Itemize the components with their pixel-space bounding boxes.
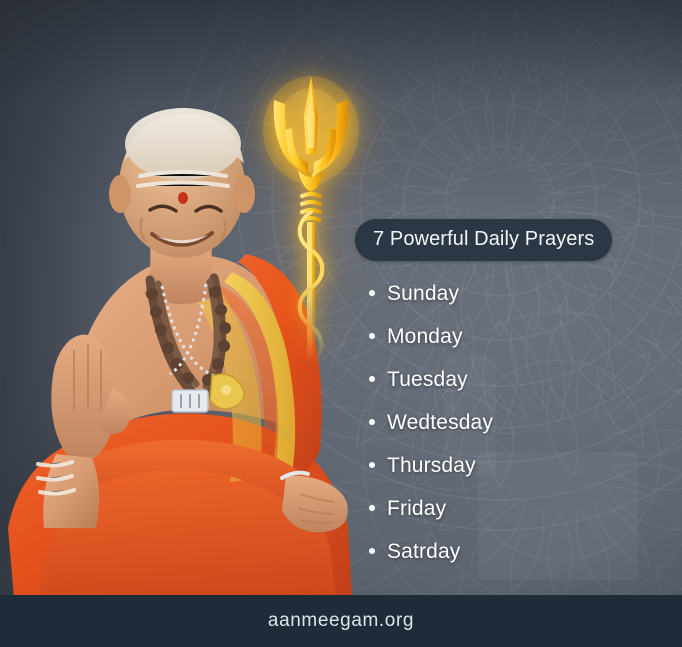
bullet-icon xyxy=(369,419,375,425)
list-item-label: Satrday xyxy=(387,540,460,563)
list-item-label: Thursday xyxy=(387,454,476,477)
bullet-icon xyxy=(369,290,375,296)
bullet-icon xyxy=(369,548,375,554)
bullet-icon xyxy=(369,376,375,382)
list-item: Monday xyxy=(369,326,655,347)
list-item: Sunday xyxy=(369,283,655,304)
list-item-label: Sunday xyxy=(387,282,459,305)
list-item: Friday xyxy=(369,498,655,519)
list-item: Wedtesday xyxy=(369,412,655,433)
prayer-poster: 7 Powerful Daily Prayers Sunday Monday T… xyxy=(0,0,682,647)
list-item: Thursday xyxy=(369,455,655,476)
bullet-icon xyxy=(369,505,375,511)
list-item: Tuesday xyxy=(369,369,655,390)
trishul-emblem-icon xyxy=(252,62,370,362)
list-item: Satrday xyxy=(369,541,655,562)
content-block: 7 Powerful Daily Prayers Sunday Monday T… xyxy=(355,219,655,562)
bullet-icon xyxy=(369,333,375,339)
footer-bar: aanmeegam.org xyxy=(0,595,682,647)
list-item-label: Monday xyxy=(387,325,463,348)
bullet-icon xyxy=(369,462,375,468)
page-title: 7 Powerful Daily Prayers xyxy=(355,219,612,261)
list-item-label: Tuesday xyxy=(387,368,468,391)
list-item-label: Friday xyxy=(387,497,446,520)
list-item-label: Wedtesday xyxy=(387,411,493,434)
website-url[interactable]: aanmeegam.org xyxy=(268,610,414,632)
daily-prayers-list: Sunday Monday Tuesday Wedtesday Thursday… xyxy=(355,283,655,562)
